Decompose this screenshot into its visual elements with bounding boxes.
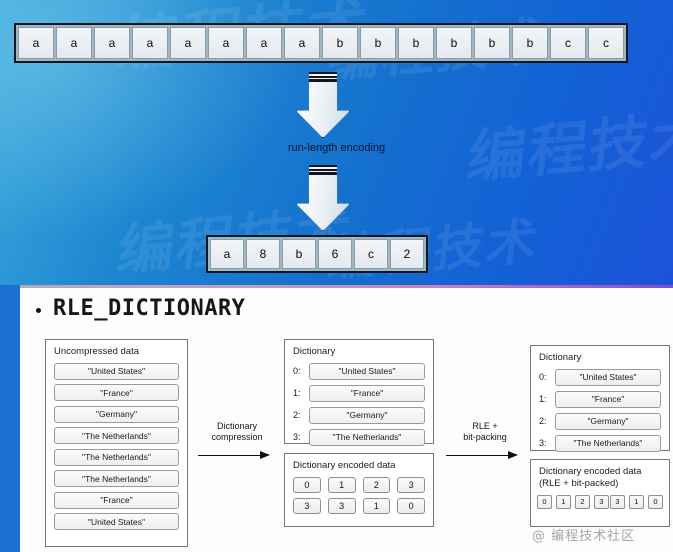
sequence-cell: b xyxy=(398,27,434,59)
encoded-middle-cell: 3 xyxy=(328,498,356,514)
encoded-right-cell: 0 xyxy=(648,495,663,509)
dictionary-right-entry-key: 3: xyxy=(539,438,549,448)
dictionary-right-entries: 0:"United States"1:"France"2:"Germany"3:… xyxy=(531,369,669,452)
dictionary-middle-entry-key: 0: xyxy=(293,366,303,376)
encoded-right-cell: 3 xyxy=(610,495,625,509)
encoded-data-box-middle: Dictionary encoded data 01233310 xyxy=(284,453,434,527)
sequence-cell: b xyxy=(436,27,472,59)
encoded-middle-cell: 2 xyxy=(363,477,391,493)
encoded-cell: b xyxy=(282,239,316,269)
rle-bitpacking-arrow: RLE + bit-packing xyxy=(440,421,530,461)
sequence-cell: b xyxy=(474,27,510,59)
community-watermark: @ 编程技术社区 xyxy=(532,525,635,544)
bullet-icon xyxy=(36,308,41,313)
rle-bitpacking-label-line1: RLE + xyxy=(472,421,497,431)
dictionary-right-entry-row: 2:"Germany" xyxy=(539,413,661,430)
sequence-cell: a xyxy=(170,27,206,59)
encoded-sequence-row: a8b6c2 xyxy=(206,235,428,273)
dictionary-right-entry-key: 2: xyxy=(539,416,549,426)
dictionary-compression-label: Dictionary compression xyxy=(192,421,282,444)
encoded-middle-cell: 1 xyxy=(363,498,391,514)
dictionary-right-entry-value: "Germany" xyxy=(555,413,661,430)
dictionary-right-entry-value: "France" xyxy=(555,391,661,408)
dictionary-right-entry-row: 0:"United States" xyxy=(539,369,661,386)
encoded-cell: 2 xyxy=(390,239,424,269)
slide-title-text: RLE_DICTIONARY xyxy=(53,296,245,321)
encoded-middle-title: Dictionary encoded data xyxy=(285,454,433,477)
sequence-cell: a xyxy=(56,27,92,59)
uncompressed-item: "France" xyxy=(54,384,179,401)
dictionary-right-entry-row: 3:"The Netherlands" xyxy=(539,435,661,452)
uncompressed-item: "United States" xyxy=(54,363,179,380)
dictionary-middle-entries: 0:"United States"1:"France"2:"Germany"3:… xyxy=(285,363,433,446)
uncompressed-item: "The Netherlands" xyxy=(54,427,179,444)
dictionary-middle-entry-row: 1:"France" xyxy=(293,385,425,402)
dictionary-middle-entry-row: 0:"United States" xyxy=(293,363,425,380)
encoded-right-title: Dictionary encoded data (RLE + bit-packe… xyxy=(531,460,669,495)
dictionary-right-title: Dictionary xyxy=(531,346,669,369)
dictionary-box-right: Dictionary 0:"United States"1:"France"2:… xyxy=(530,345,670,451)
uncompressed-item: "Germany" xyxy=(54,406,179,423)
sequence-cell: a xyxy=(284,27,320,59)
dictionary-middle-entry-value: "The Netherlands" xyxy=(309,429,425,446)
run-length-encoding-label: run-length encoding xyxy=(0,142,673,154)
dictionary-middle-entry-row: 2:"Germany" xyxy=(293,407,425,424)
encoded-right-cell: 3 xyxy=(594,495,609,509)
encoded-middle-cell: 0 xyxy=(293,477,321,493)
encoded-middle-cell: 1 xyxy=(328,477,356,493)
encoded-right-values: 0123310 xyxy=(531,495,669,509)
dictionary-middle-entry-key: 2: xyxy=(293,410,303,420)
dictionary-box-middle: Dictionary 0:"United States"1:"France"2:… xyxy=(284,339,434,444)
sequence-cell: a xyxy=(208,27,244,59)
encoded-cell: a xyxy=(210,239,244,269)
rle-overview-panel: 编程技术 编程技术 编程技术 编程技术 编程技术 aaaaaaaabbbbbbc… xyxy=(0,0,673,285)
down-arrow-icon xyxy=(296,165,350,231)
arrow-body xyxy=(296,174,350,231)
encoded-right-title-line1: Dictionary encoded data xyxy=(539,466,641,477)
encoded-cell: 8 xyxy=(246,239,280,269)
arrow-cap xyxy=(309,72,337,81)
encoded-cell: c xyxy=(354,239,388,269)
page-title: RLE_DICTIONARY xyxy=(36,296,245,321)
dictionary-compression-arrow: Dictionary compression xyxy=(192,421,282,461)
right-arrow-icon xyxy=(192,451,282,461)
sequence-cell: a xyxy=(246,27,282,59)
encoded-right-cell: 1 xyxy=(629,495,644,509)
arrow-cap xyxy=(309,165,337,174)
sequence-cell: c xyxy=(550,27,586,59)
dictionary-middle-entry-key: 3: xyxy=(293,432,303,442)
encoded-right-cell: 0 xyxy=(537,495,552,509)
arrow-body xyxy=(296,81,350,138)
dictionary-right-entry-value: "United States" xyxy=(555,369,661,386)
uncompressed-data-box: Uncompressed data "United States""France… xyxy=(45,339,188,547)
rle-bitpacking-label-line2: bit-packing xyxy=(463,432,507,442)
sequence-cell: a xyxy=(18,27,54,59)
sequence-cell: b xyxy=(512,27,548,59)
encoded-data-box-right: Dictionary encoded data (RLE + bit-packe… xyxy=(530,459,670,527)
encoded-right-cell: 2 xyxy=(575,495,590,509)
rle-bitpacking-label: RLE + bit-packing xyxy=(440,421,530,444)
down-arrow-icon xyxy=(296,72,350,138)
encoded-middle-cell: 3 xyxy=(397,477,425,493)
sequence-cell: b xyxy=(360,27,396,59)
sequence-cell: b xyxy=(322,27,358,59)
uncompressed-item: "The Netherlands" xyxy=(54,449,179,466)
slide-content-card: RLE_DICTIONARY Uncompressed data "United… xyxy=(20,288,673,552)
dictionary-compression-label-line2: compression xyxy=(211,432,262,442)
encoded-middle-cell: 3 xyxy=(293,498,321,514)
sequence-cell: a xyxy=(94,27,130,59)
dictionary-middle-title: Dictionary xyxy=(285,340,433,363)
uncompressed-data-list: "United States""France""Germany""The Net… xyxy=(46,363,187,531)
sequence-cell: a xyxy=(132,27,168,59)
right-arrow-icon xyxy=(440,451,530,461)
input-sequence-row: aaaaaaaabbbbbbcc xyxy=(14,23,628,63)
dictionary-middle-entry-value: "France" xyxy=(309,385,425,402)
sequence-cell: c xyxy=(588,27,624,59)
dictionary-encoding-diagram: Uncompressed data "United States""France… xyxy=(20,333,673,552)
uncompressed-item: "France" xyxy=(54,492,179,509)
encoded-right-title-line2: (RLE + bit-packed) xyxy=(539,478,618,489)
dictionary-right-entry-key: 1: xyxy=(539,394,549,404)
dictionary-middle-entry-key: 1: xyxy=(293,388,303,398)
uncompressed-item: "The Netherlands" xyxy=(54,470,179,487)
dictionary-middle-entry-value: "Germany" xyxy=(309,407,425,424)
slide-root: 编程技术 编程技术 编程技术 编程技术 编程技术 aaaaaaaabbbbbbc… xyxy=(0,0,673,552)
uncompressed-data-title: Uncompressed data xyxy=(46,340,187,363)
dictionary-right-entry-value: "The Netherlands" xyxy=(555,435,661,452)
dictionary-middle-entry-value: "United States" xyxy=(309,363,425,380)
dictionary-right-entry-row: 1:"France" xyxy=(539,391,661,408)
uncompressed-item: "United States" xyxy=(54,513,179,530)
encoded-middle-cell: 0 xyxy=(397,498,425,514)
encoded-right-cell: 1 xyxy=(556,495,571,509)
encoded-middle-values: 01233310 xyxy=(285,477,433,514)
dictionary-middle-entry-row: 3:"The Netherlands" xyxy=(293,429,425,446)
dictionary-right-entry-key: 0: xyxy=(539,372,549,382)
encoded-cell: 6 xyxy=(318,239,352,269)
rle-dictionary-slide: RLE_DICTIONARY Uncompressed data "United… xyxy=(0,285,673,552)
dictionary-compression-label-line1: Dictionary xyxy=(217,421,257,431)
